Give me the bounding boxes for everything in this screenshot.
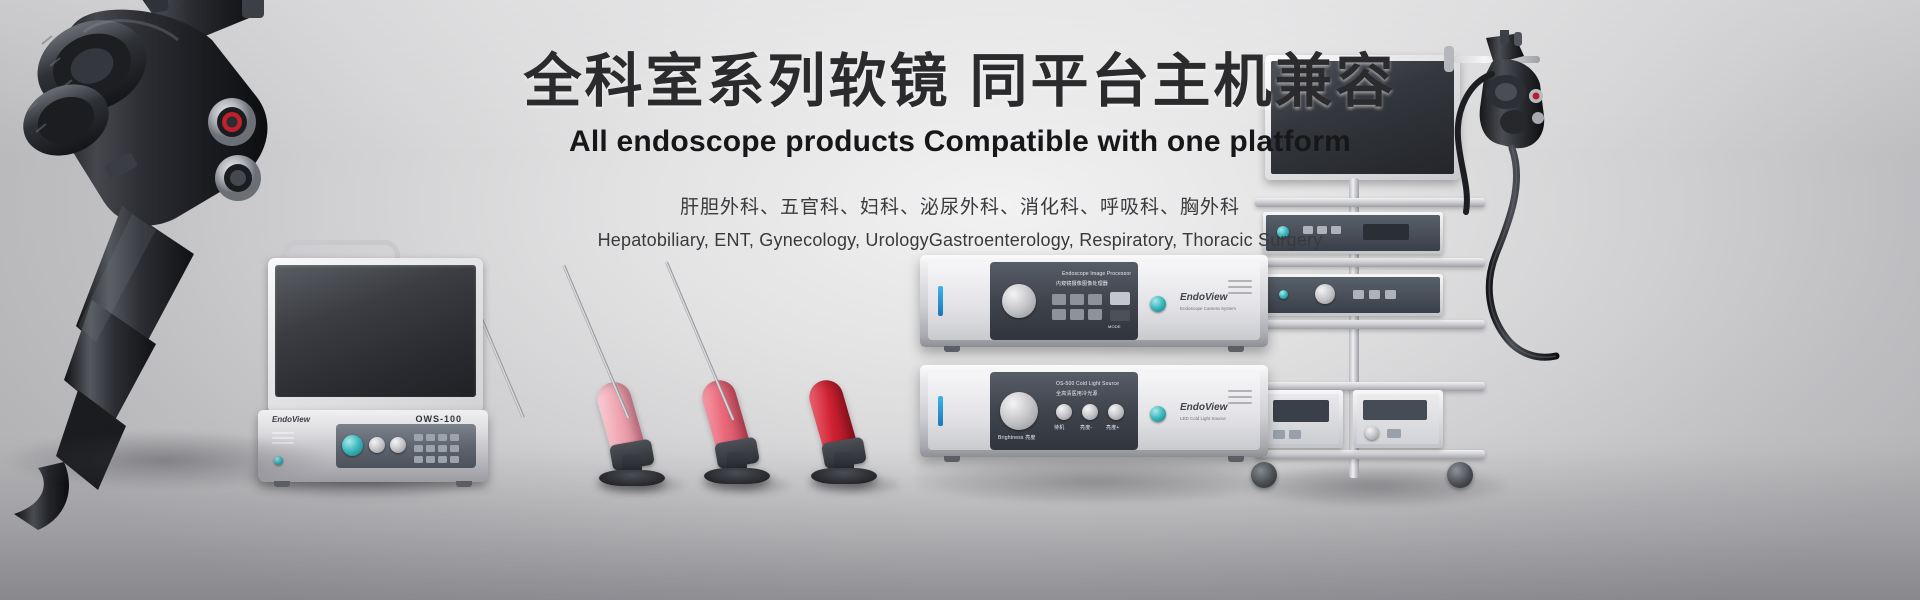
processor-dark-panel: Endoscope Image Processor 内窥镜摄像图像处理器 MOD… — [990, 262, 1138, 340]
light-source-dark-panel: OS-500 Cold Light Source 全高清医用冷光源 Bright… — [990, 372, 1138, 450]
instrument-base — [811, 468, 877, 484]
cart-device-2-btn-3[interactable] — [1385, 290, 1396, 299]
processor-btn-5[interactable] — [1070, 309, 1084, 320]
light-source-vent-2 — [1228, 396, 1252, 398]
processor-btn-2[interactable] — [1070, 294, 1084, 305]
light-source-button-increase[interactable] — [1108, 404, 1124, 420]
brightness-knob[interactable] — [1000, 392, 1038, 430]
processor-vent-1 — [1228, 280, 1252, 282]
light-source-button-label-2: 亮度- — [1080, 424, 1092, 431]
processor-stack: Endoscope Image Processor 内窥镜摄像图像处理器 MOD… — [920, 255, 1270, 485]
light-source-foot-right — [1228, 456, 1244, 462]
cart-device-4-screen — [1363, 400, 1427, 420]
page-title-en: All endoscope products Compatible with o… — [0, 124, 1920, 160]
light-source-power-button[interactable] — [1150, 406, 1166, 422]
processor-title-cn: 内窥镜摄像图像处理器 — [1056, 280, 1108, 287]
ows-button-6[interactable] — [426, 445, 435, 452]
light-source-title-cn: 全高清医用冷光源 — [1056, 390, 1098, 397]
ows-button-12[interactable] — [450, 456, 459, 463]
cart-device-4-knob[interactable] — [1365, 426, 1379, 440]
ows-button-1[interactable] — [414, 434, 423, 441]
cart-device-3-screen — [1273, 400, 1329, 422]
processor-sub-label: Endoscope Camera System — [1180, 306, 1236, 311]
product-banner: 全科室系列软镜 同平台主机兼容 All endoscope products C… — [0, 0, 1920, 600]
light-source-vent-1 — [1228, 390, 1252, 392]
image-processor-unit: Endoscope Image Processor 内窥镜摄像图像处理器 MOD… — [920, 255, 1268, 347]
brightness-knob-label: Brightness 亮度 — [998, 434, 1036, 441]
processor-port-aux[interactable] — [1110, 310, 1130, 321]
cart-device-4-btn[interactable] — [1387, 429, 1401, 438]
ows-button-5[interactable] — [414, 445, 423, 452]
cart-device-3-btn-1[interactable] — [1273, 430, 1285, 439]
ows-button-9[interactable] — [414, 456, 423, 463]
processor-port-usb[interactable] — [1110, 292, 1130, 305]
light-source-brand-label: EndoView — [1180, 402, 1227, 413]
processor-vent-3 — [1228, 292, 1252, 294]
cart-shelf-5 — [1255, 450, 1485, 459]
processor-faceplate: Endoscope Image Processor 内窥镜摄像图像处理器 MOD… — [928, 262, 1260, 340]
processor-stack-shadow — [916, 459, 1276, 503]
cart-device-3 — [1263, 390, 1343, 448]
cart-device-3-btn-2[interactable] — [1289, 430, 1301, 439]
processor-vent-2 — [1228, 286, 1252, 288]
departments-en: Hepatobiliary, ENT, Gynecology, UrologyG… — [0, 228, 1920, 253]
light-source-button-label-1: 待机 — [1054, 424, 1064, 431]
processor-foot-right — [1228, 346, 1244, 352]
ows-button-4[interactable] — [450, 434, 459, 441]
ows-button-3[interactable] — [438, 434, 447, 441]
ows-button-10[interactable] — [426, 456, 435, 463]
light-source-foot-left — [944, 456, 960, 462]
cart-device-4 — [1353, 390, 1443, 448]
light-source-button-label-3: 亮度+ — [1106, 424, 1120, 431]
processor-main-knob[interactable] — [1002, 284, 1036, 318]
processor-power-button[interactable] — [1150, 296, 1166, 312]
endoscope-shadow — [0, 430, 330, 490]
light-source-sub-label: LED Cold Light Source — [1180, 416, 1226, 421]
laparoscopic-instrument-red — [725, 248, 880, 488]
cart-device-2-btn-2[interactable] — [1369, 290, 1380, 299]
departments-cn: 肝胆外科、五官科、妇科、泌尿外科、消化科、呼吸科、胸外科 — [0, 194, 1920, 223]
ows-button-2[interactable] — [426, 434, 435, 441]
light-source-faceplate: OS-500 Cold Light Source 全高清医用冷光源 Bright… — [928, 372, 1260, 450]
processor-brand-label: EndoView — [1180, 292, 1227, 303]
light-source-button-decrease[interactable] — [1082, 404, 1098, 420]
blue-accent-tab — [938, 286, 943, 316]
processor-btn-3[interactable] — [1088, 294, 1102, 305]
ows-foot-right — [456, 481, 472, 487]
processor-btn-6[interactable] — [1088, 309, 1102, 320]
cart-device-2-btn-1[interactable] — [1353, 290, 1364, 299]
page-title-cn: 全科室系列软镜 同平台主机兼容 — [0, 48, 1920, 116]
cart-device-2-indicator — [1279, 290, 1288, 299]
cart-device-2-knob[interactable] — [1315, 284, 1335, 304]
ows-button-8[interactable] — [450, 445, 459, 452]
blue-accent-tab — [938, 396, 943, 426]
cart-wheel-right — [1447, 462, 1473, 488]
light-source-button-standby[interactable] — [1056, 404, 1072, 420]
processor-btn-1[interactable] — [1052, 294, 1066, 305]
ows-button-7[interactable] — [438, 445, 447, 452]
light-source-vent-3 — [1228, 402, 1252, 404]
processor-port-label: MODE — [1108, 324, 1121, 329]
light-source-title-en: OS-500 Cold Light Source — [1056, 381, 1119, 387]
ows-button-11[interactable] — [438, 456, 447, 463]
ows-model-label: OWS-100 — [415, 414, 462, 424]
banner-text-block: 全科室系列软镜 同平台主机兼容 All endoscope products C… — [0, 48, 1920, 253]
processor-foot-left — [944, 346, 960, 352]
processor-btn-4[interactable] — [1052, 309, 1066, 320]
cold-light-source-unit: OS-500 Cold Light Source 全高清医用冷光源 Bright… — [920, 365, 1268, 457]
processor-title-en: Endoscope Image Processor — [1062, 271, 1131, 277]
cart-device-2 — [1263, 274, 1443, 316]
